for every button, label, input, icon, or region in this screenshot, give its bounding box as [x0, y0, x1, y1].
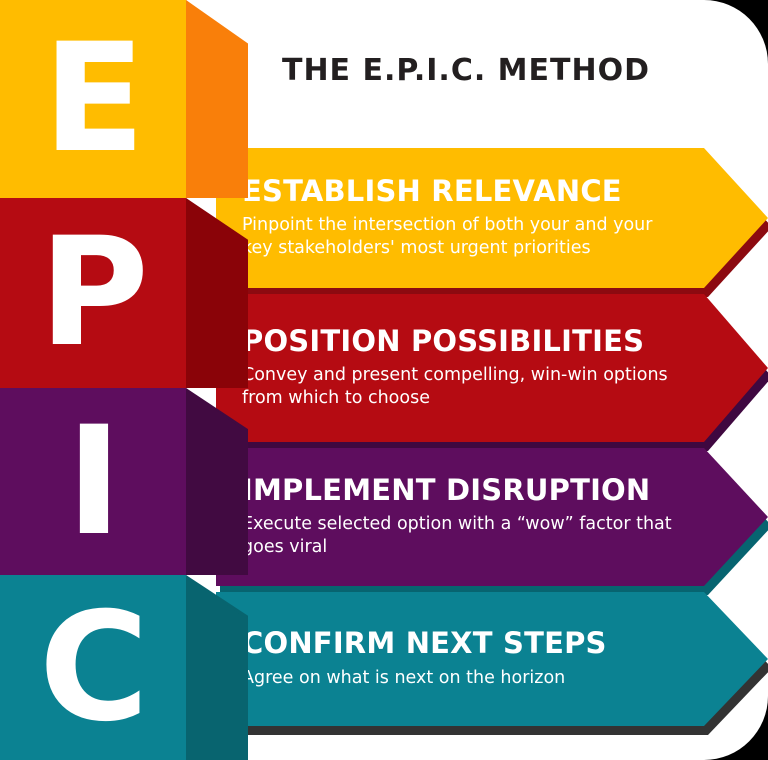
- step-band-establish[interactable]: ESTABLISH RELEVANCE Pinpoint the interse…: [216, 148, 768, 288]
- band-title: ESTABLISH RELEVANCE: [242, 176, 672, 206]
- band-description: Pinpoint the intersection of both your a…: [242, 214, 672, 260]
- page-title: THE E.P.I.C. METHOD: [206, 0, 726, 140]
- letter-glyph-e: E: [0, 0, 186, 198]
- letter-block-c[interactable]: C: [0, 575, 186, 760]
- letter-glyph-p: P: [0, 198, 186, 388]
- band-description: Agree on what is next on the horizon: [242, 667, 607, 690]
- letter-glyph-c: C: [0, 575, 186, 760]
- band-description: Convey and present compelling, win-win o…: [242, 364, 672, 410]
- step-band-implement[interactable]: IMPLEMENT DISRUPTION Execute selected op…: [216, 448, 768, 586]
- step-band-position[interactable]: POSITION POSSIBILITIES Convey and presen…: [216, 294, 768, 442]
- band-text-group: ESTABLISH RELEVANCE Pinpoint the interse…: [242, 148, 672, 288]
- letter-glyph-i: I: [0, 388, 186, 575]
- letter-block-i[interactable]: I: [0, 388, 186, 575]
- step-band-confirm[interactable]: CONFIRM NEXT STEPS Agree on what is next…: [216, 592, 768, 726]
- band-description: Execute selected option with a “wow” fac…: [242, 513, 672, 559]
- band-text-group: POSITION POSSIBILITIES Convey and presen…: [242, 294, 672, 442]
- band-title: POSITION POSSIBILITIES: [242, 326, 672, 356]
- letter-column: E P I C: [0, 0, 206, 760]
- band-text-group: IMPLEMENT DISRUPTION Execute selected op…: [242, 448, 672, 586]
- letter-block-p[interactable]: P: [0, 198, 186, 388]
- letter-block-e[interactable]: E: [0, 0, 186, 198]
- band-title: IMPLEMENT DISRUPTION: [242, 475, 672, 505]
- epic-method-infographic: THE E.P.I.C. METHOD ESTABLISH RELEVANCE …: [0, 0, 768, 760]
- band-title: CONFIRM NEXT STEPS: [242, 628, 607, 658]
- band-text-group: CONFIRM NEXT STEPS Agree on what is next…: [242, 592, 607, 726]
